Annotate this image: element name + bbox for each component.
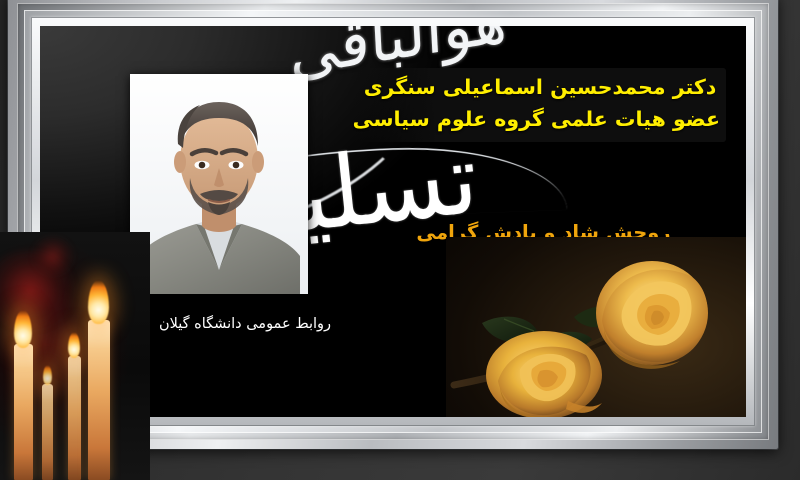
deceased-info-block: دکتر محمدحسین اسماعیلی سنگری عضو هیات عل… (354, 68, 726, 142)
roses-illustration (446, 237, 746, 417)
deceased-name: دکتر محمدحسین اسماعیلی سنگری (360, 72, 720, 104)
red-ambient-glow-small (30, 236, 76, 276)
candles-photo (0, 232, 150, 480)
candle-right-front-flame (88, 280, 109, 324)
deceased-title: عضو هیات علمی گروه علوم سیاسی (360, 104, 720, 136)
candle-back-small (42, 384, 53, 480)
candle-mid-back-flame (68, 332, 80, 358)
roses-photo (446, 237, 746, 417)
candle-left-front (14, 344, 33, 480)
portrait-photo (130, 74, 308, 294)
candle-right-front (88, 320, 110, 480)
candle-mid-back (68, 356, 81, 480)
candle-back-small-flame (43, 365, 52, 385)
banner-stage: هوالباقی تسلیت (0, 0, 800, 480)
portrait-illustration (130, 74, 308, 294)
